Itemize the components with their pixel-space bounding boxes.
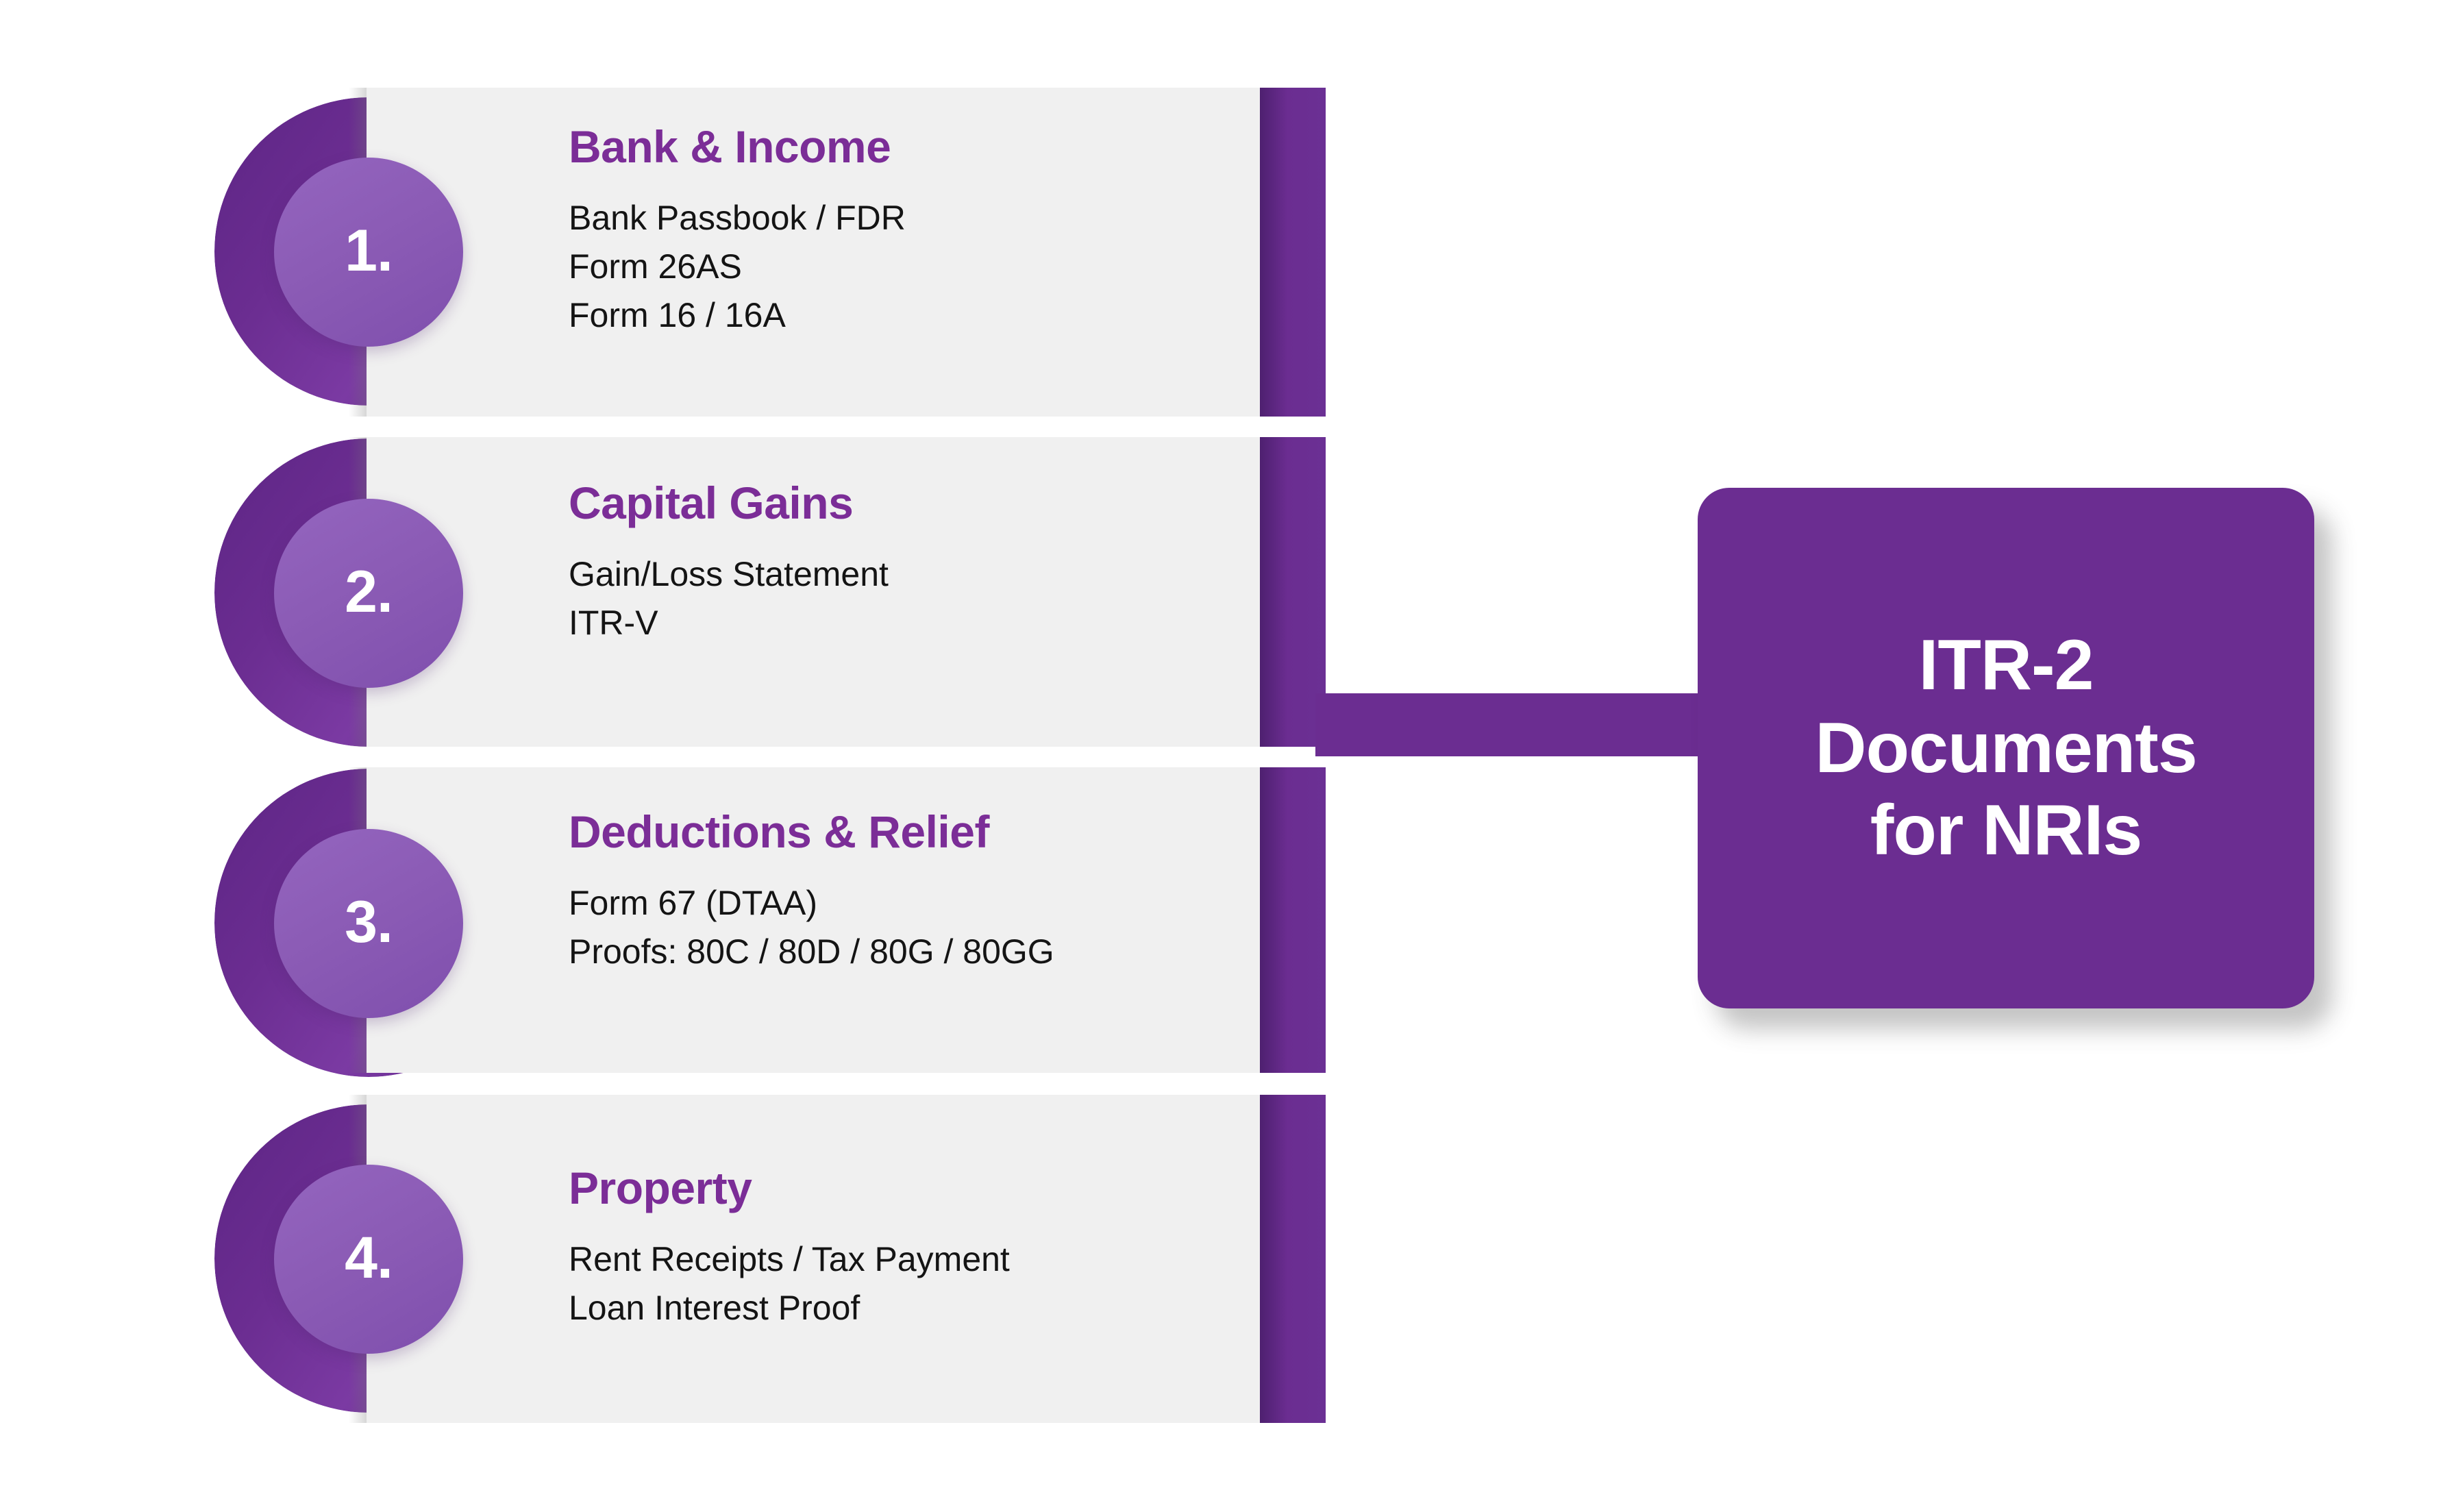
step-heading-4: Property [569,1165,1010,1212]
itr-card: ITR-2 Documents for NRIs [1698,488,2314,1008]
step-line: Loan Interest Proof [569,1284,1010,1333]
step-line: ITR-V [569,599,889,647]
step-content-1: Bank & Income Bank Passbook / FDR Form 2… [569,123,906,340]
step-heading-1: Bank & Income [569,123,906,171]
step-number-circle-3: 3. [274,829,463,1018]
step-number-label-1: 1. [345,221,393,280]
itr-card-title: ITR-2 Documents for NRIs [1794,624,2217,872]
step-lines-4: Rent Receipts / Tax Payment Loan Interes… [569,1235,1010,1333]
step-number-label-3: 3. [345,893,393,952]
step-line: Rent Receipts / Tax Payment [569,1235,1010,1284]
step-lines-1: Bank Passbook / FDR Form 26AS Form 16 / … [569,194,906,340]
step-line: Form 16 / 16A [569,291,906,340]
horizontal-connector [1315,693,1713,756]
step-line: Proofs: 80C / 80D / 80G / 80GG [569,928,1054,976]
step-lines-2: Gain/Loss Statement ITR-V [569,550,889,647]
step-line: Gain/Loss Statement [569,550,889,599]
step-number-label-2: 2. [345,562,393,621]
step-heading-2: Capital Gains [569,480,889,527]
step-line: Form 26AS [569,243,906,291]
step-line: Form 67 (DTAA) [569,879,1054,928]
infographic-canvas: 1. Bank & Income Bank Passbook / FDR For… [0,0,2441,1512]
step-content-3: Deductions & Relief Form 67 (DTAA) Proof… [569,808,1054,976]
step-line: Bank Passbook / FDR [569,194,906,243]
step-heading-3: Deductions & Relief [569,808,1054,856]
card-line-2: Documents [1815,707,2196,790]
card-line-3: for NRIs [1815,789,2196,872]
step-content-4: Property Rent Receipts / Tax Payment Loa… [569,1165,1010,1333]
spine-segment-3 [1260,767,1326,1073]
step-content-2: Capital Gains Gain/Loss Statement ITR-V [569,480,889,647]
card-line-1: ITR-2 [1815,624,2196,707]
step-lines-3: Form 67 (DTAA) Proofs: 80C / 80D / 80G /… [569,879,1054,976]
step-number-circle-2: 2. [274,499,463,688]
step-number-circle-1: 1. [274,158,463,347]
step-number-circle-4: 4. [274,1165,463,1354]
spine-segment-1 [1260,88,1326,417]
step-number-label-4: 4. [345,1228,393,1287]
spine-segment-4 [1260,1095,1326,1423]
